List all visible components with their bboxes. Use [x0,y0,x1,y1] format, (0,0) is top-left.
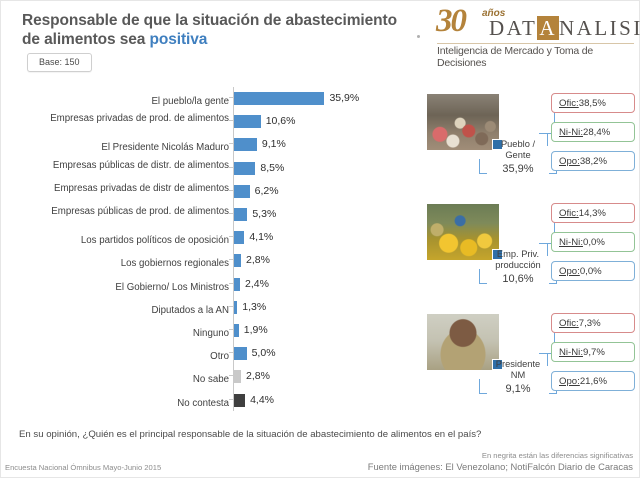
annotation-key: Ofic: [559,98,579,109]
segment-group: Pueblo /Gente35,9%Ofic: 38,5%Ni-Ni: 28,4… [421,87,639,193]
annotation-opo: Opo: 38,2% [551,151,635,171]
annotation-opo: Opo: 21,6% [551,371,635,391]
bracket-top-icon [539,243,548,256]
bracket-left-icon [479,269,487,284]
annotation-key: Ni-Ni: [559,347,583,358]
category-label: Otro [29,351,229,362]
chart-bar [234,278,240,291]
chart-row: El Presidente Nicolás Maduro9,1% [15,137,415,161]
chart-bar [234,370,241,383]
segment-group: PresidenteNM9,1%Ofic: 7,3%Ni-Ni: 9,7%Opo… [421,307,639,413]
bracket-left-icon [479,159,487,174]
chart-bar [234,347,247,360]
annotation-value: 7,3% [579,318,601,329]
chart-row: El Gobierno/ Los Ministros2,4% [15,277,415,301]
chart-bar [234,138,257,151]
annotation-key: Opo: [559,156,580,167]
segment-panel: Pueblo /Gente35,9%Ofic: 38,5%Ni-Ni: 28,4… [421,87,639,417]
annotation-value: 9,7% [583,347,605,358]
annotation-nini: Ni-Ni: 0,0% [551,232,635,252]
title-line-2: de alimentos sea [22,31,150,48]
annotation-value: 0,0% [583,237,605,248]
bar-value-label: 5,3% [252,208,276,221]
chart-bar [234,185,250,198]
segment-label-line2: producción [483,260,553,271]
chart-bar [234,254,241,267]
bar-value-label: 1,3% [242,301,266,314]
bar-value-label: 9,1% [262,138,286,151]
chart-row: Ninguno1,9% [15,323,415,347]
annotation-value: 28,4% [583,127,610,138]
chart-row: Empresas privadas de prod. de alimentos1… [15,114,415,138]
bar-value-label: 4,4% [250,394,274,407]
segment-group: Emp. Priv.producción10,6%Ofic: 14,3%Ni-N… [421,197,639,303]
segment-value: 10,6% [483,273,553,285]
bar-value-label: 2,8% [246,370,270,383]
category-label: Los partidos políticos de oposición [29,235,229,246]
logo-brand-a: A [537,16,559,40]
bar-value-label: 10,6% [266,115,296,128]
annotation-nini: Ni-Ni: 9,7% [551,342,635,362]
bar-value-label: 1,9% [244,324,268,337]
category-label: Empresas públicas de distr. de alimentos [29,160,229,171]
segment-value: 35,9% [483,163,553,175]
logo-dot-icon [417,35,420,38]
category-label: No contesta [29,398,229,409]
segment-value: 9,1% [483,383,553,395]
logo-anniversary-number: 30 [436,5,465,38]
logo-brand: DATANALISIS [489,18,640,39]
bar-value-label: 35,9% [329,92,359,105]
survey-source: Encuesta Nacional Ómnibus Mayo-Junio 201… [5,463,161,472]
chart-bar [234,394,245,407]
survey-question: En su opinión, ¿Quién es el principal re… [19,429,481,440]
chart-row: Empresas privadas de distr de alimentos6… [15,184,415,208]
bar-value-label: 8,5% [260,162,284,175]
chart-row: Los partidos políticos de oposición4,1% [15,230,415,254]
bar-value-label: 5,0% [252,347,276,360]
segment-label-line2: NM [483,370,553,381]
chart-row: Empresas públicas de prod. de alimentos5… [15,207,415,231]
logo-tagline: Inteligencia de Mercado y Toma de Decisi… [437,45,638,69]
annotation-value: 14,3% [579,208,606,219]
annotation-key: Opo: [559,376,580,387]
bar-value-label: 2,4% [245,278,269,291]
category-label: No sabe [29,374,229,385]
chart-bar [234,92,324,105]
title-line-1: Responsable de que la situación de abast… [22,12,397,29]
annotation-nini: Ni-Ni: 28,4% [551,122,635,142]
category-label: Los gobiernos regionales [29,258,229,269]
chart-row: Los gobiernos regionales2,8% [15,253,415,277]
bar-chart: El pueblo/la gente35,9%Empresas privadas… [15,87,415,411]
annotation-key: Ofic: [559,208,579,219]
bar-value-label: 6,2% [255,185,279,198]
annotation-key: Ni-Ni: [559,127,583,138]
chart-bar [234,115,261,128]
category-label: El Gobierno/ Los Ministros [29,282,229,293]
bracket-left-icon [479,379,487,394]
category-label: Empresas privadas de distr de alimentos [29,183,229,194]
annotation-value: 0,0% [580,266,602,277]
annotation-key: Ni-Ni: [559,237,583,248]
title-highlight: positiva [150,31,208,48]
segment-label-line2: Gente [483,150,553,161]
category-label: El Presidente Nicolás Maduro [29,142,229,153]
annotation-key: Opo: [559,266,580,277]
chart-row: Empresas públicas de distr. de alimentos… [15,161,415,185]
image-sources: Fuente imágenes: El Venezolano; NotiFalc… [368,461,633,472]
chart-row: El pueblo/la gente35,9% [15,91,415,115]
annotation-ofic: Ofic: 38,5% [551,93,635,113]
slide-canvas: Responsable de que la situación de abast… [0,0,640,478]
annotation-key: Ofic: [559,318,579,329]
chart-row: Otro5,0% [15,346,415,370]
chart-row: No contesta4,4% [15,393,415,417]
chart-row: No sabe2,8% [15,369,415,393]
logo-brand-pre: DAT [489,16,537,40]
bracket-top-icon [539,133,548,146]
chart-bar [234,324,239,337]
chart-bar [234,231,244,244]
annotation-value: 21,6% [580,376,607,387]
bar-value-label: 2,8% [246,254,270,267]
annotation-ofic: Ofic: 14,3% [551,203,635,223]
datanalisis-logo: 30 años DATANALISIS Inteligencia de Merc… [433,5,638,61]
annotation-value: 38,5% [579,98,606,109]
annotation-ofic: Ofic: 7,3% [551,313,635,333]
annotation-opo: Opo: 0,0% [551,261,635,281]
chart-bar [234,162,255,175]
logo-divider [437,43,634,44]
chart-bar [234,301,237,314]
logo-brand-post: NALISIS [559,16,640,40]
bracket-top-icon [539,353,548,366]
annotation-value: 38,2% [580,156,607,167]
base-badge: Base: 150 [27,53,92,72]
category-label: Empresas privadas de prod. de alimentos [29,113,229,124]
chart-row: Diputados a la AN1,3% [15,300,415,324]
category-label: Diputados a la AN [29,305,229,316]
category-label: Empresas públicas de prod. de alimentos [29,206,229,217]
category-label: Ninguno [29,328,229,339]
category-label: El pueblo/la gente [29,96,229,107]
page-title: Responsable de que la situación de abast… [22,11,442,49]
bar-value-label: 4,1% [249,231,273,244]
chart-bar [234,208,247,221]
significance-note: En negrita están las diferencias signifi… [482,451,633,460]
